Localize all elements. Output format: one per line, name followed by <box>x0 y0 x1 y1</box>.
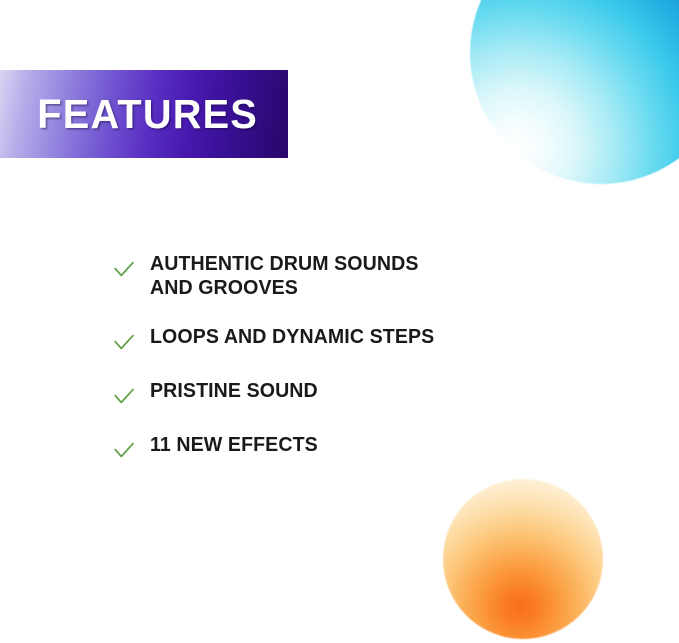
check-icon <box>112 257 136 281</box>
list-item: LOOPS AND DYNAMIC STEPS <box>112 325 582 354</box>
features-banner: FEATURES <box>0 70 288 158</box>
check-icon <box>112 384 136 408</box>
feature-label: 11 NEW EFFECTS <box>150 433 318 457</box>
blue-gradient-circle <box>470 0 679 184</box>
check-icon <box>112 438 136 462</box>
feature-label: LOOPS AND DYNAMIC STEPS <box>150 325 434 349</box>
feature-label: AUTHENTIC DRUM SOUNDS AND GROOVES <box>150 252 418 300</box>
promo-graphic-canvas: FEATURES AUTHENTIC DRUM SOUNDS AND GROOV… <box>0 0 679 643</box>
feature-label: PRISTINE SOUND <box>150 379 318 403</box>
page-title: FEATURES <box>30 91 258 138</box>
list-item: PRISTINE SOUND <box>112 379 582 408</box>
feature-list: AUTHENTIC DRUM SOUNDS AND GROOVES LOOPS … <box>112 252 582 462</box>
orange-gradient-circle <box>443 479 603 639</box>
list-item: AUTHENTIC DRUM SOUNDS AND GROOVES <box>112 252 582 300</box>
list-item: 11 NEW EFFECTS <box>112 433 582 462</box>
check-icon <box>112 330 136 354</box>
